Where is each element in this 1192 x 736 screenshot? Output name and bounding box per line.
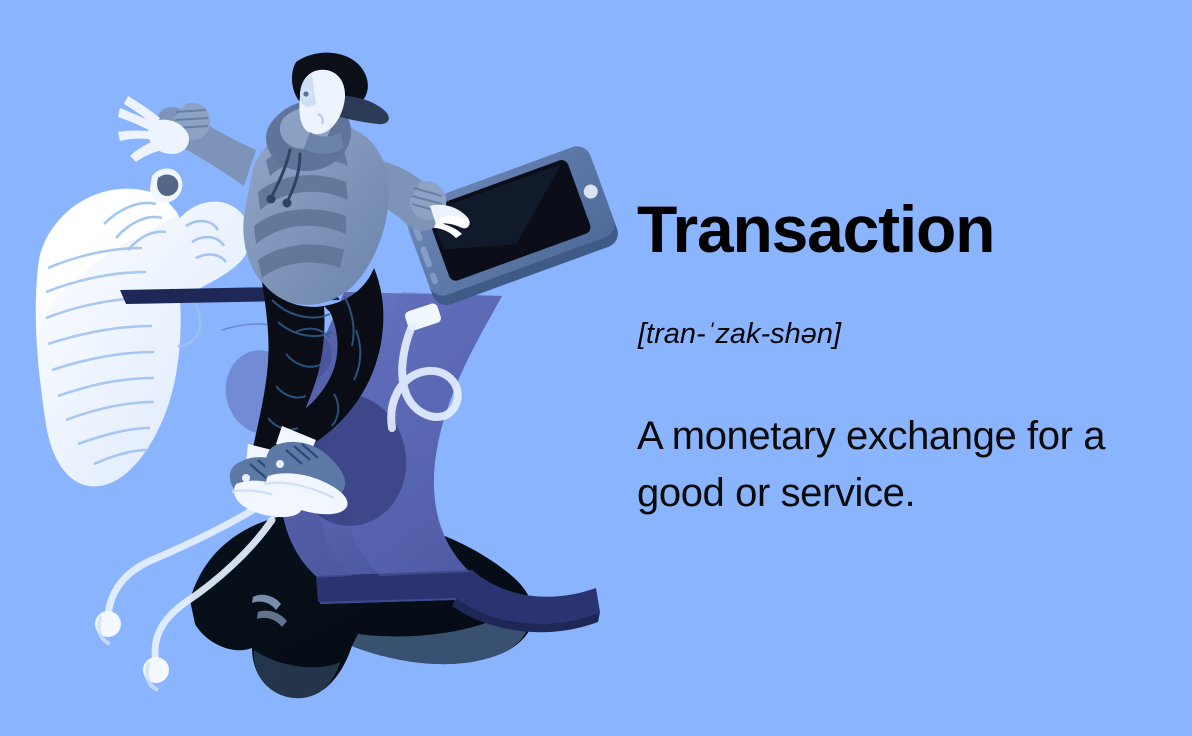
definition-text: A monetary exchange for a good or servic… [637,408,1107,522]
slide-canvas: Transaction [tran-ˈzak-shən] A monetary … [0,0,1192,736]
definition-text-panel: Transaction [tran-ˈzak-shən] A monetary … [637,0,1157,736]
page-title: Transaction [637,196,994,262]
illustration-skater-on-credit-card [0,0,640,736]
pronunciation: [tran-ˈzak-shən] [638,320,841,349]
